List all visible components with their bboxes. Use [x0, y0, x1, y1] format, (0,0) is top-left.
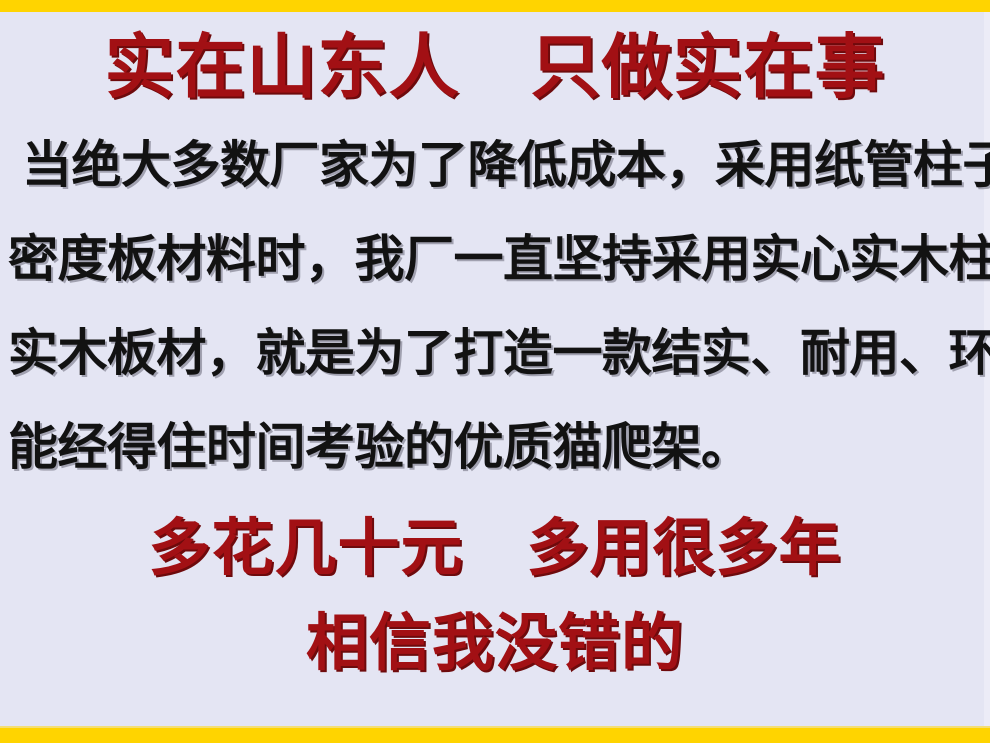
- body-line-4: 能经得住时间考验的优质猫爬架。: [8, 422, 986, 472]
- page-title: 实在山东人 只做实在事: [0, 24, 990, 110]
- top-accent-band: [0, 0, 990, 12]
- promo-banner: 实在山东人 只做实在事 当绝大多数厂家为了降低成本，采用纸管柱子和 密度板材料时…: [0, 0, 990, 743]
- bottom-accent-band: [0, 728, 990, 743]
- slogan-line-2: 相信我没错的: [0, 605, 990, 681]
- body-line-3: 实木板材，就是为了打造一款结实、耐用、环保，: [8, 328, 986, 378]
- body-paragraph: 当绝大多数厂家为了降低成本，采用纸管柱子和 密度板材料时，我厂一直坚持采用实心实…: [8, 140, 986, 472]
- body-line-1: 当绝大多数厂家为了降低成本，采用纸管柱子和: [22, 140, 986, 190]
- body-line-2: 密度板材料时，我厂一直坚持采用实心实木柱子和: [8, 234, 986, 284]
- slogan-line-1: 多花几十元 多用很多年: [0, 510, 990, 586]
